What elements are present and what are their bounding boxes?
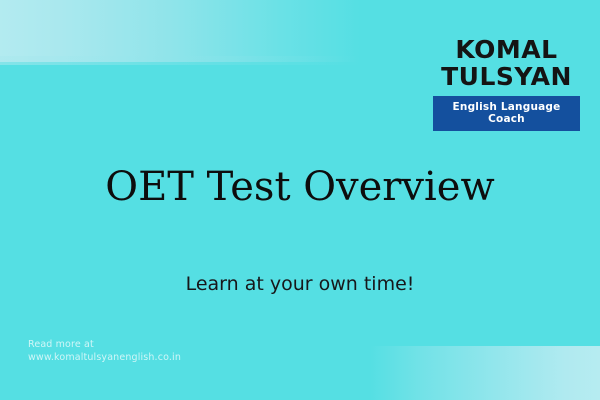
decorative-band-top-left-fade bbox=[0, 56, 360, 65]
brand-name-line-1: KOMAL bbox=[433, 36, 580, 63]
brand-tagline-line-1: English Language bbox=[433, 101, 580, 113]
footer-credit: Read more at www.komaltulsyanenglish.co.… bbox=[28, 338, 181, 364]
brand-tagline-line-2: Coach bbox=[433, 113, 580, 125]
decorative-band-top-left bbox=[0, 0, 360, 62]
footer-credit-label: Read more at bbox=[28, 338, 181, 351]
decorative-band-bottom-right bbox=[370, 346, 600, 400]
brand-logo: KOMAL TULSYAN English Language Coach bbox=[433, 36, 580, 131]
brand-tagline-banner: English Language Coach bbox=[433, 96, 580, 131]
slide-subtitle: Learn at your own time! bbox=[0, 272, 600, 296]
brand-name-line-2: TULSYAN bbox=[433, 63, 580, 90]
footer-credit-url: www.komaltulsyanenglish.co.in bbox=[28, 351, 181, 364]
slide-title: OET Test Overview bbox=[0, 163, 600, 211]
slide-canvas: KOMAL TULSYAN English Language Coach OET… bbox=[0, 0, 600, 400]
